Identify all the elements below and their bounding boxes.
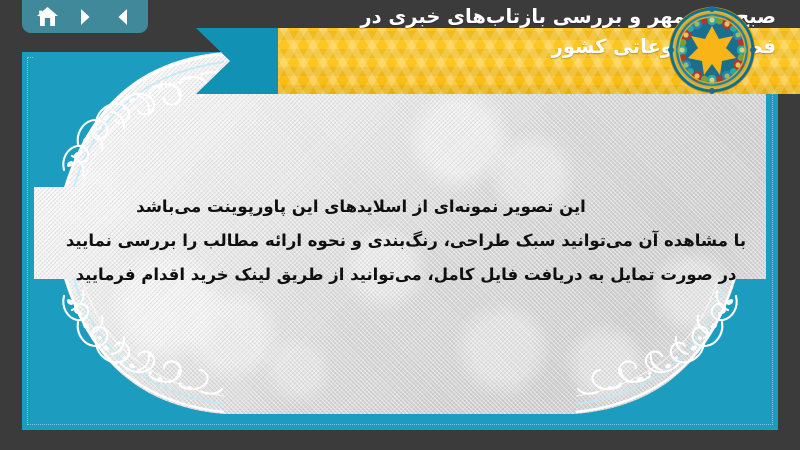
body-line-2: با مشاهده آن می‌توانید سبک طراحی، رنگ‌بن… bbox=[56, 224, 756, 258]
forward-button[interactable] bbox=[70, 4, 100, 30]
back-arrow-icon bbox=[113, 7, 133, 27]
home-button[interactable] bbox=[32, 4, 62, 30]
home-icon bbox=[36, 6, 59, 27]
slide-viewer: این تصویر نمونه‌ای از اسلایدهای این پاور… bbox=[0, 0, 800, 450]
persian-medallion-icon: decorative ring built below bbox=[668, 6, 756, 94]
slide-body-text: این تصویر نمونه‌ای از اسلایدهای این پاور… bbox=[56, 190, 756, 292]
back-button[interactable] bbox=[108, 4, 138, 30]
body-line-1: این تصویر نمونه‌ای از اسلایدهای این پاور… bbox=[56, 190, 756, 224]
navigation-toolbar bbox=[22, 0, 148, 33]
slide-frame: این تصویر نمونه‌ای از اسلایدهای این پاور… bbox=[22, 52, 778, 430]
body-line-3: در صورت تمایل به دریافت فایل کامل، می‌تو… bbox=[56, 258, 756, 292]
forward-arrow-icon bbox=[75, 7, 95, 27]
